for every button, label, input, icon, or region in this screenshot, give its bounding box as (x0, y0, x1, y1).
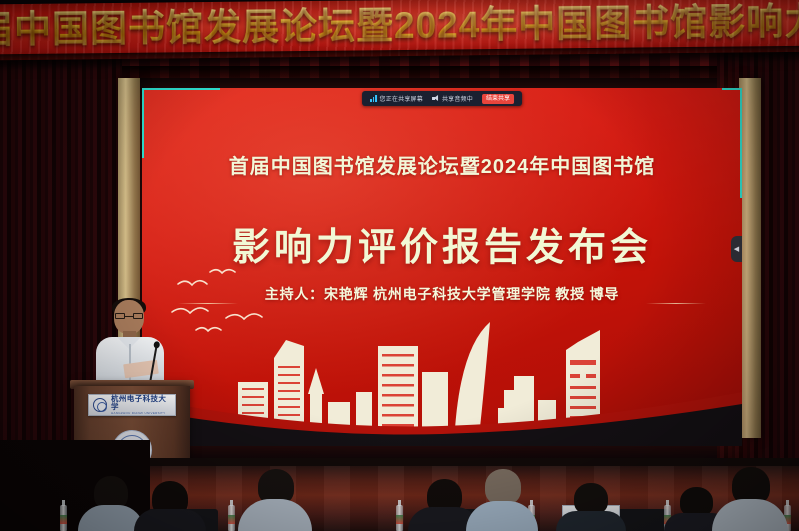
audience-shoulders (134, 509, 206, 531)
audience-shoulders (238, 499, 312, 531)
audience-shoulders (466, 501, 538, 531)
conference-hall-scene: 您正在共享屏幕 共享音频中 结束共享 首届中国图书馆发展论坛暨2024年中国图书… (0, 0, 799, 531)
audience-member-3 (238, 469, 312, 531)
sharing-status-label: 您正在共享屏幕 (380, 94, 423, 103)
slide-main-title: 影响力评价报告发布会 (142, 216, 742, 271)
podium-plaque-cn: 杭州电子科技大学 (111, 395, 171, 410)
podium-plaque: 杭州电子科技大学 HANGZHOU DIANZI UNIVERSITY (88, 394, 176, 416)
water-bottle (396, 505, 403, 531)
audio-status-label: 共享音频中 (442, 94, 473, 103)
audience-shoulders (712, 499, 788, 531)
audience-head (485, 469, 521, 505)
collapse-panel-handle[interactable]: ◀ (731, 236, 742, 262)
sharing-status-group: 您正在共享屏幕 (370, 94, 423, 103)
end-share-button[interactable]: 结束共享 (482, 94, 514, 104)
signal-bars-icon (370, 95, 377, 102)
wall-panel-right (739, 78, 761, 438)
audio-status-group: 共享音频中 (432, 94, 473, 103)
screen-share-toolbar: 您正在共享屏幕 共享音频中 结束共享 (362, 91, 522, 106)
slide-host-line: 主持人：宋艳辉 杭州电子科技大学管理学院 教授 博导 (142, 284, 742, 304)
audience-member-2 (134, 481, 206, 531)
podium-plaque-en: HANGZHOU DIANZI UNIVERSITY (111, 412, 171, 415)
audience-member-6 (556, 483, 626, 531)
slide-subtitle-line: 首届中国图书馆发展论坛暨2024年中国图书馆 (142, 150, 742, 179)
speaker-icon (432, 95, 439, 102)
audience-member-8 (712, 467, 788, 531)
projection-screen: 您正在共享屏幕 共享音频中 结束共享 首届中国图书馆发展论坛暨2024年中国图书… (142, 88, 742, 446)
university-emblem-icon (93, 398, 107, 412)
screen-corner-bracket-top-right (722, 88, 742, 198)
audience-shoulders (556, 511, 626, 531)
ribbon-decoration (142, 386, 742, 446)
audience-member-5 (466, 469, 538, 531)
water-bottle (60, 505, 67, 531)
glasses-icon (115, 313, 143, 319)
screen-corner-bracket-top-left (142, 88, 220, 158)
water-bottle (228, 505, 235, 531)
chevron-left-icon: ◀ (734, 245, 739, 253)
